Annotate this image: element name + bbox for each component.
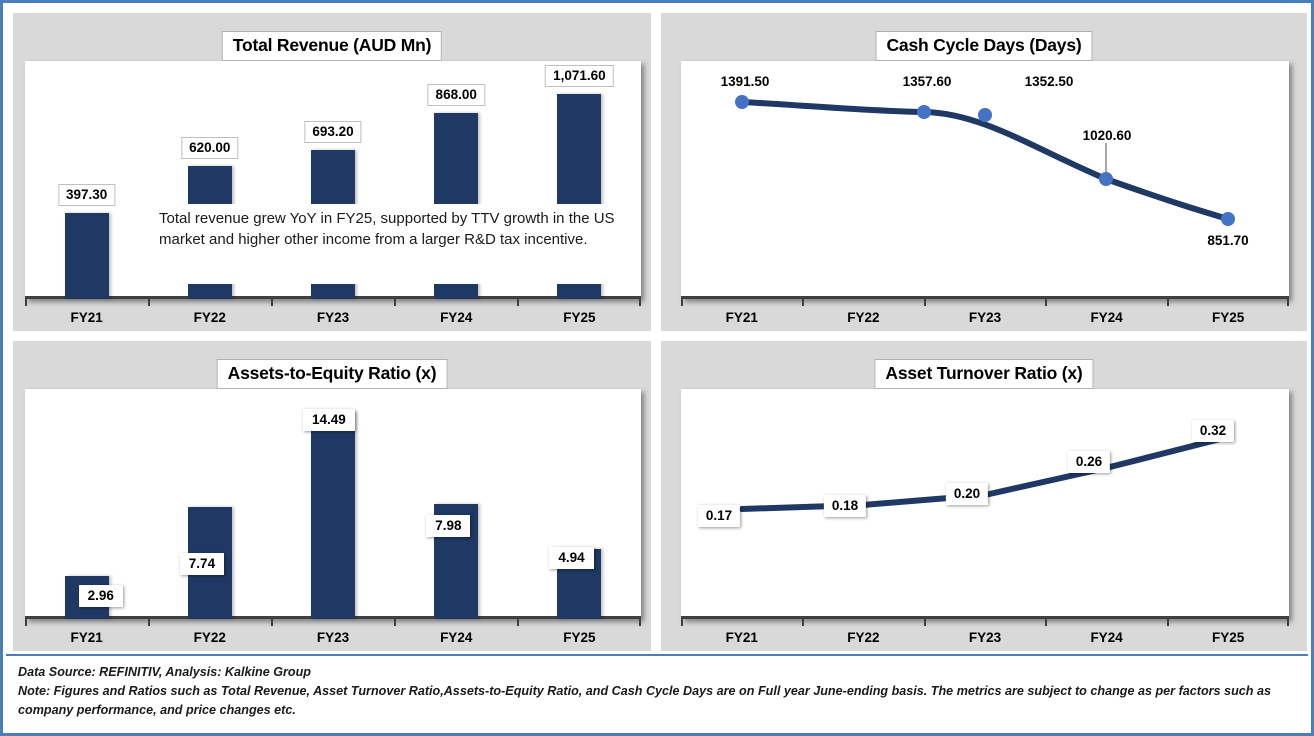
panel-asset-turnover: Asset Turnover Ratio (x) 0.17 0.18 0.20 …: [661, 341, 1307, 651]
bar-slot-fy22: 7.74: [148, 389, 271, 619]
plot-area-cash-cycle-days: 1391.50 1357.60 1352.50 1020.60 851.70: [681, 61, 1289, 299]
cat-label-fy23: FY23: [924, 310, 1046, 325]
x-axis-labels-total-revenue: FY21 FY22 FY23 FY24 FY25: [25, 310, 641, 325]
footer-notes: Data Source: REFINITIV, Analysis: Kalkin…: [6, 654, 1308, 730]
cat-label-fy21: FY21: [25, 630, 148, 645]
cat-label-fy21: FY21: [681, 310, 803, 325]
axis-tick: [517, 298, 519, 306]
plot-area-assets-to-equity: 2.96 7.74 14.49 7.98 4.94: [25, 389, 641, 619]
cat-label-fy22: FY22: [148, 310, 271, 325]
cat-label-fy22: FY22: [148, 630, 271, 645]
cat-label-fy23: FY23: [271, 310, 394, 325]
bar-value-fy21: 2.96: [79, 585, 123, 607]
point-value-fy24: 1020.60: [1083, 128, 1132, 143]
axis-tick: [681, 298, 683, 306]
marker-fy22[interactable]: [917, 105, 931, 119]
marker-fy25[interactable]: [1221, 212, 1235, 226]
cat-label-fy22: FY22: [803, 630, 925, 645]
point-value-fy23: 0.20: [946, 483, 988, 505]
axis-tick: [1287, 618, 1289, 626]
axis-tick: [1167, 298, 1169, 306]
point-value-fy22: 0.18: [824, 495, 866, 517]
bar-value-fy23: 14.49: [303, 409, 355, 431]
cat-label-fy23: FY23: [924, 630, 1046, 645]
axis-tick: [1045, 298, 1047, 306]
axis-tick: [802, 298, 804, 306]
cat-label-fy21: FY21: [681, 630, 803, 645]
cat-label-fy24: FY24: [395, 310, 518, 325]
marker-fy24[interactable]: [1099, 172, 1113, 186]
cat-label-fy25: FY25: [518, 630, 641, 645]
axis-tick: [271, 618, 273, 626]
bar-value-fy25: 4.94: [549, 547, 593, 569]
bar-series-assets-to-equity: 2.96 7.74 14.49 7.98 4.94: [25, 389, 641, 619]
bar-fy23[interactable]: [311, 412, 355, 619]
cat-label-fy25: FY25: [1167, 310, 1289, 325]
point-value-fy24: 0.26: [1068, 451, 1110, 473]
axis-tick: [517, 618, 519, 626]
axis-tick: [681, 618, 683, 626]
axis-tick: [1045, 618, 1047, 626]
cat-label-fy22: FY22: [803, 310, 925, 325]
panel-assets-to-equity: Assets-to-Equity Ratio (x) 2.96 7.74 14.…: [13, 341, 651, 651]
plot-area-total-revenue: 397.30 620.00 693.20 868.00 1,071.60: [25, 61, 641, 299]
axis-tick: [924, 298, 926, 306]
cat-label-fy24: FY24: [1046, 310, 1168, 325]
bar-slot-fy21: 2.96: [25, 389, 148, 619]
bar-value-fy24: 7.98: [426, 515, 470, 537]
marker-fy23[interactable]: [978, 108, 992, 122]
cat-label-fy21: FY21: [25, 310, 148, 325]
bar-value-fy25: 1,071.60: [545, 65, 614, 87]
axis-tick: [1167, 618, 1169, 626]
bar-value-fy24: 868.00: [428, 84, 485, 106]
bar-slot-fy25: 4.94: [518, 389, 641, 619]
axis-tick: [25, 298, 27, 306]
x-axis-labels-assets-to-equity: FY21 FY22 FY23 FY24 FY25: [25, 630, 641, 645]
cat-label-fy25: FY25: [1167, 630, 1289, 645]
point-value-fy21: 1391.50: [721, 74, 770, 89]
plot-area-asset-turnover: 0.17 0.18 0.20 0.26 0.32: [681, 389, 1289, 619]
bar-slot-fy21: 397.30: [25, 61, 148, 299]
footer-source: Data Source: REFINITIV, Analysis: Kalkin…: [18, 663, 1296, 682]
panel-total-revenue: Total Revenue (AUD Mn) 397.30 620.00 693…: [13, 13, 651, 331]
point-value-fy22: 1357.60: [903, 74, 952, 89]
panel-title-assets-to-equity: Assets-to-Equity Ratio (x): [217, 359, 448, 389]
axis-tick: [639, 618, 641, 626]
axis-tick: [1287, 298, 1289, 306]
axis-tick: [924, 618, 926, 626]
panel-cash-cycle-days: Cash Cycle Days (Days) 1391.50 1357.60 1…: [661, 13, 1307, 331]
point-value-fy25: 0.32: [1192, 420, 1234, 442]
axis-tick: [148, 298, 150, 306]
cat-label-fy24: FY24: [395, 630, 518, 645]
bar-fy21[interactable]: [65, 213, 109, 299]
point-value-fy23: 1352.50: [1025, 74, 1074, 89]
panel-title-cash-cycle-days: Cash Cycle Days (Days): [875, 31, 1092, 61]
point-value-fy21: 0.17: [698, 505, 740, 527]
axis-tick: [25, 618, 27, 626]
bar-value-fy21: 397.30: [58, 184, 115, 206]
axis-tick: [394, 298, 396, 306]
footer-note: Note: Figures and Ratios such as Total R…: [18, 682, 1296, 720]
x-axis-labels-asset-turnover: FY21 FY22 FY23 FY24 FY25: [681, 630, 1289, 645]
axis-tick: [394, 618, 396, 626]
bar-value-fy23: 693.20: [304, 121, 361, 143]
bar-value-fy22: 7.74: [180, 553, 224, 575]
bar-value-fy22: 620.00: [181, 137, 238, 159]
cat-label-fy25: FY25: [518, 310, 641, 325]
point-value-fy25: 851.70: [1207, 233, 1248, 248]
panel-title-asset-turnover: Asset Turnover Ratio (x): [874, 359, 1093, 389]
commentary-text: Total revenue grew YoY in FY25, supporte…: [159, 210, 615, 248]
axis-tick: [802, 618, 804, 626]
line-series-cash-cycle-days: [681, 61, 1289, 299]
cat-label-fy24: FY24: [1046, 630, 1168, 645]
axis-tick: [639, 298, 641, 306]
bar-slot-fy23: 14.49: [271, 389, 394, 619]
panel-title-total-revenue: Total Revenue (AUD Mn): [222, 31, 442, 61]
bar-slot-fy24: 7.98: [395, 389, 518, 619]
axis-tick: [148, 618, 150, 626]
commentary-textbox: Total revenue grew YoY in FY25, supporte…: [157, 204, 619, 284]
dashboard-root: Total Revenue (AUD Mn) 397.30 620.00 693…: [0, 0, 1314, 736]
axis-tick: [271, 298, 273, 306]
marker-fy21[interactable]: [735, 95, 749, 109]
cat-label-fy23: FY23: [271, 630, 394, 645]
x-axis-labels-cash-cycle-days: FY21 FY22 FY23 FY24 FY25: [681, 310, 1289, 325]
